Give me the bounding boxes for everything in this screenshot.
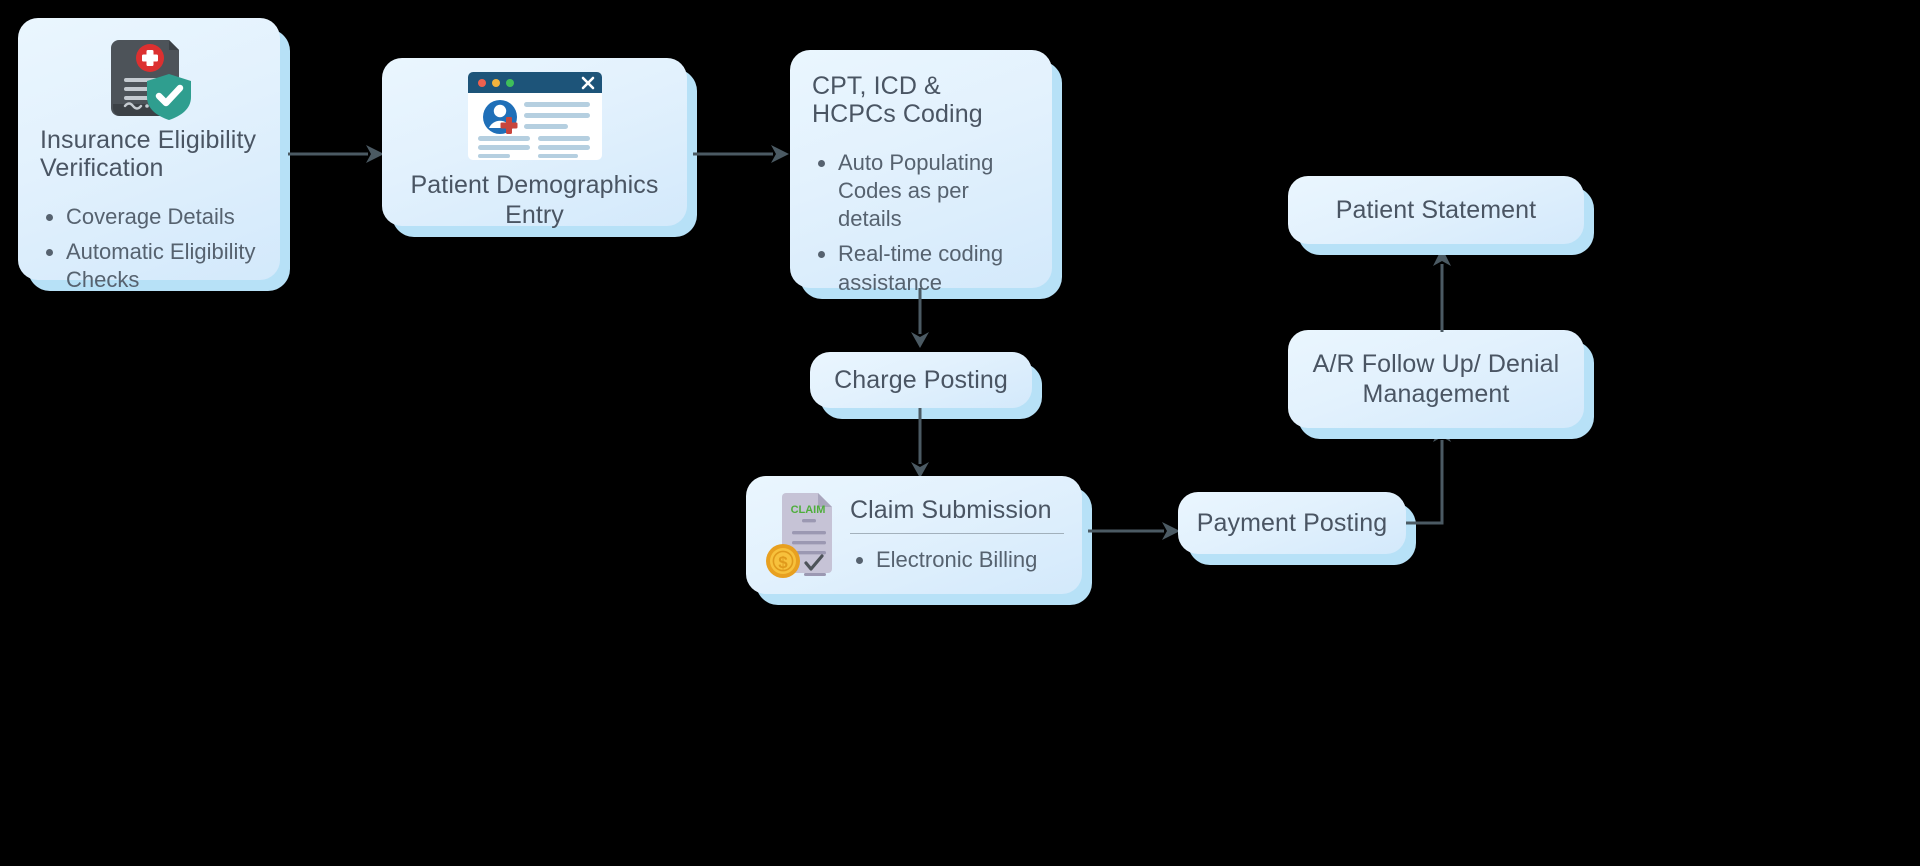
bullet-item: Electronic Billing xyxy=(850,546,1064,574)
card-body: CPT, ICD & HCPCs Coding Auto Populating … xyxy=(790,50,1052,288)
medical-document-shield-icon xyxy=(40,36,258,120)
node-title: Insurance Eligibility Verification xyxy=(40,126,258,182)
node-title: Charge Posting xyxy=(834,365,1008,395)
node-title: CPT, ICD & HCPCs Coding xyxy=(812,72,1030,128)
bullet-item: Auto Populating Codes as per details xyxy=(812,149,1030,233)
node-insurance-eligibility-verification[interactable]: Insurance Eligibility Verification Cover… xyxy=(18,18,280,280)
coin-symbol: $ xyxy=(778,553,788,572)
node-title: Patient Statement xyxy=(1336,195,1536,225)
card-body: A/R Follow Up/ Denial Management xyxy=(1288,330,1584,428)
node-title: Patient Demographics Entry xyxy=(402,170,667,230)
node-charge-posting[interactable]: Charge Posting xyxy=(810,352,1032,408)
card-body: Patient Demographics Entry xyxy=(382,58,687,226)
node-title: Claim Submission xyxy=(850,496,1064,524)
card-body: Patient Statement xyxy=(1288,176,1584,244)
card-body: Payment Posting xyxy=(1178,492,1406,554)
divider xyxy=(850,533,1064,534)
workflow-diagram: Insurance Eligibility Verification Cover… xyxy=(0,0,1920,866)
node-patient-demographics-entry[interactable]: Patient Demographics Entry xyxy=(382,58,687,226)
node-bullets: Electronic Billing xyxy=(850,546,1064,574)
card-body: Insurance Eligibility Verification Cover… xyxy=(18,18,280,280)
node-claim-submission[interactable]: CLAIM $ Claim Submission xyxy=(746,476,1082,594)
node-payment-posting[interactable]: Payment Posting xyxy=(1178,492,1406,554)
node-title: Payment Posting xyxy=(1197,508,1388,538)
bullet-item: Automatic Eligibility Checks xyxy=(40,238,258,294)
connector-insurance-to-demographics xyxy=(288,142,388,166)
card-body: Charge Posting xyxy=(810,352,1032,408)
connector-demographics-to-coding xyxy=(693,142,793,166)
connector-ar-followup-to-patient-statement xyxy=(1430,246,1454,332)
claim-document-coin-icon: CLAIM $ xyxy=(764,487,838,584)
connector-claim-to-payment-posting xyxy=(1088,519,1184,543)
node-bullets: Auto Populating Codes as per details Rea… xyxy=(812,149,1030,304)
node-title: A/R Follow Up/ Denial Management xyxy=(1288,349,1584,409)
bullet-item: Coverage Details xyxy=(40,203,258,231)
connector-coding-to-charge-posting xyxy=(908,288,932,350)
node-bullets: Coverage Details Automatic Eligibility C… xyxy=(40,203,258,301)
browser-window-patient-profile-icon xyxy=(468,72,602,160)
node-cpt-icd-hcpcs-coding[interactable]: CPT, ICD & HCPCs Coding Auto Populating … xyxy=(790,50,1052,288)
node-patient-statement[interactable]: Patient Statement xyxy=(1288,176,1584,244)
card-body: CLAIM $ Claim Submission xyxy=(746,476,1082,594)
connector-charge-posting-to-claim xyxy=(908,408,932,480)
claim-icon-label: CLAIM xyxy=(791,504,826,516)
node-ar-follow-up-denial-management[interactable]: A/R Follow Up/ Denial Management xyxy=(1288,330,1584,428)
